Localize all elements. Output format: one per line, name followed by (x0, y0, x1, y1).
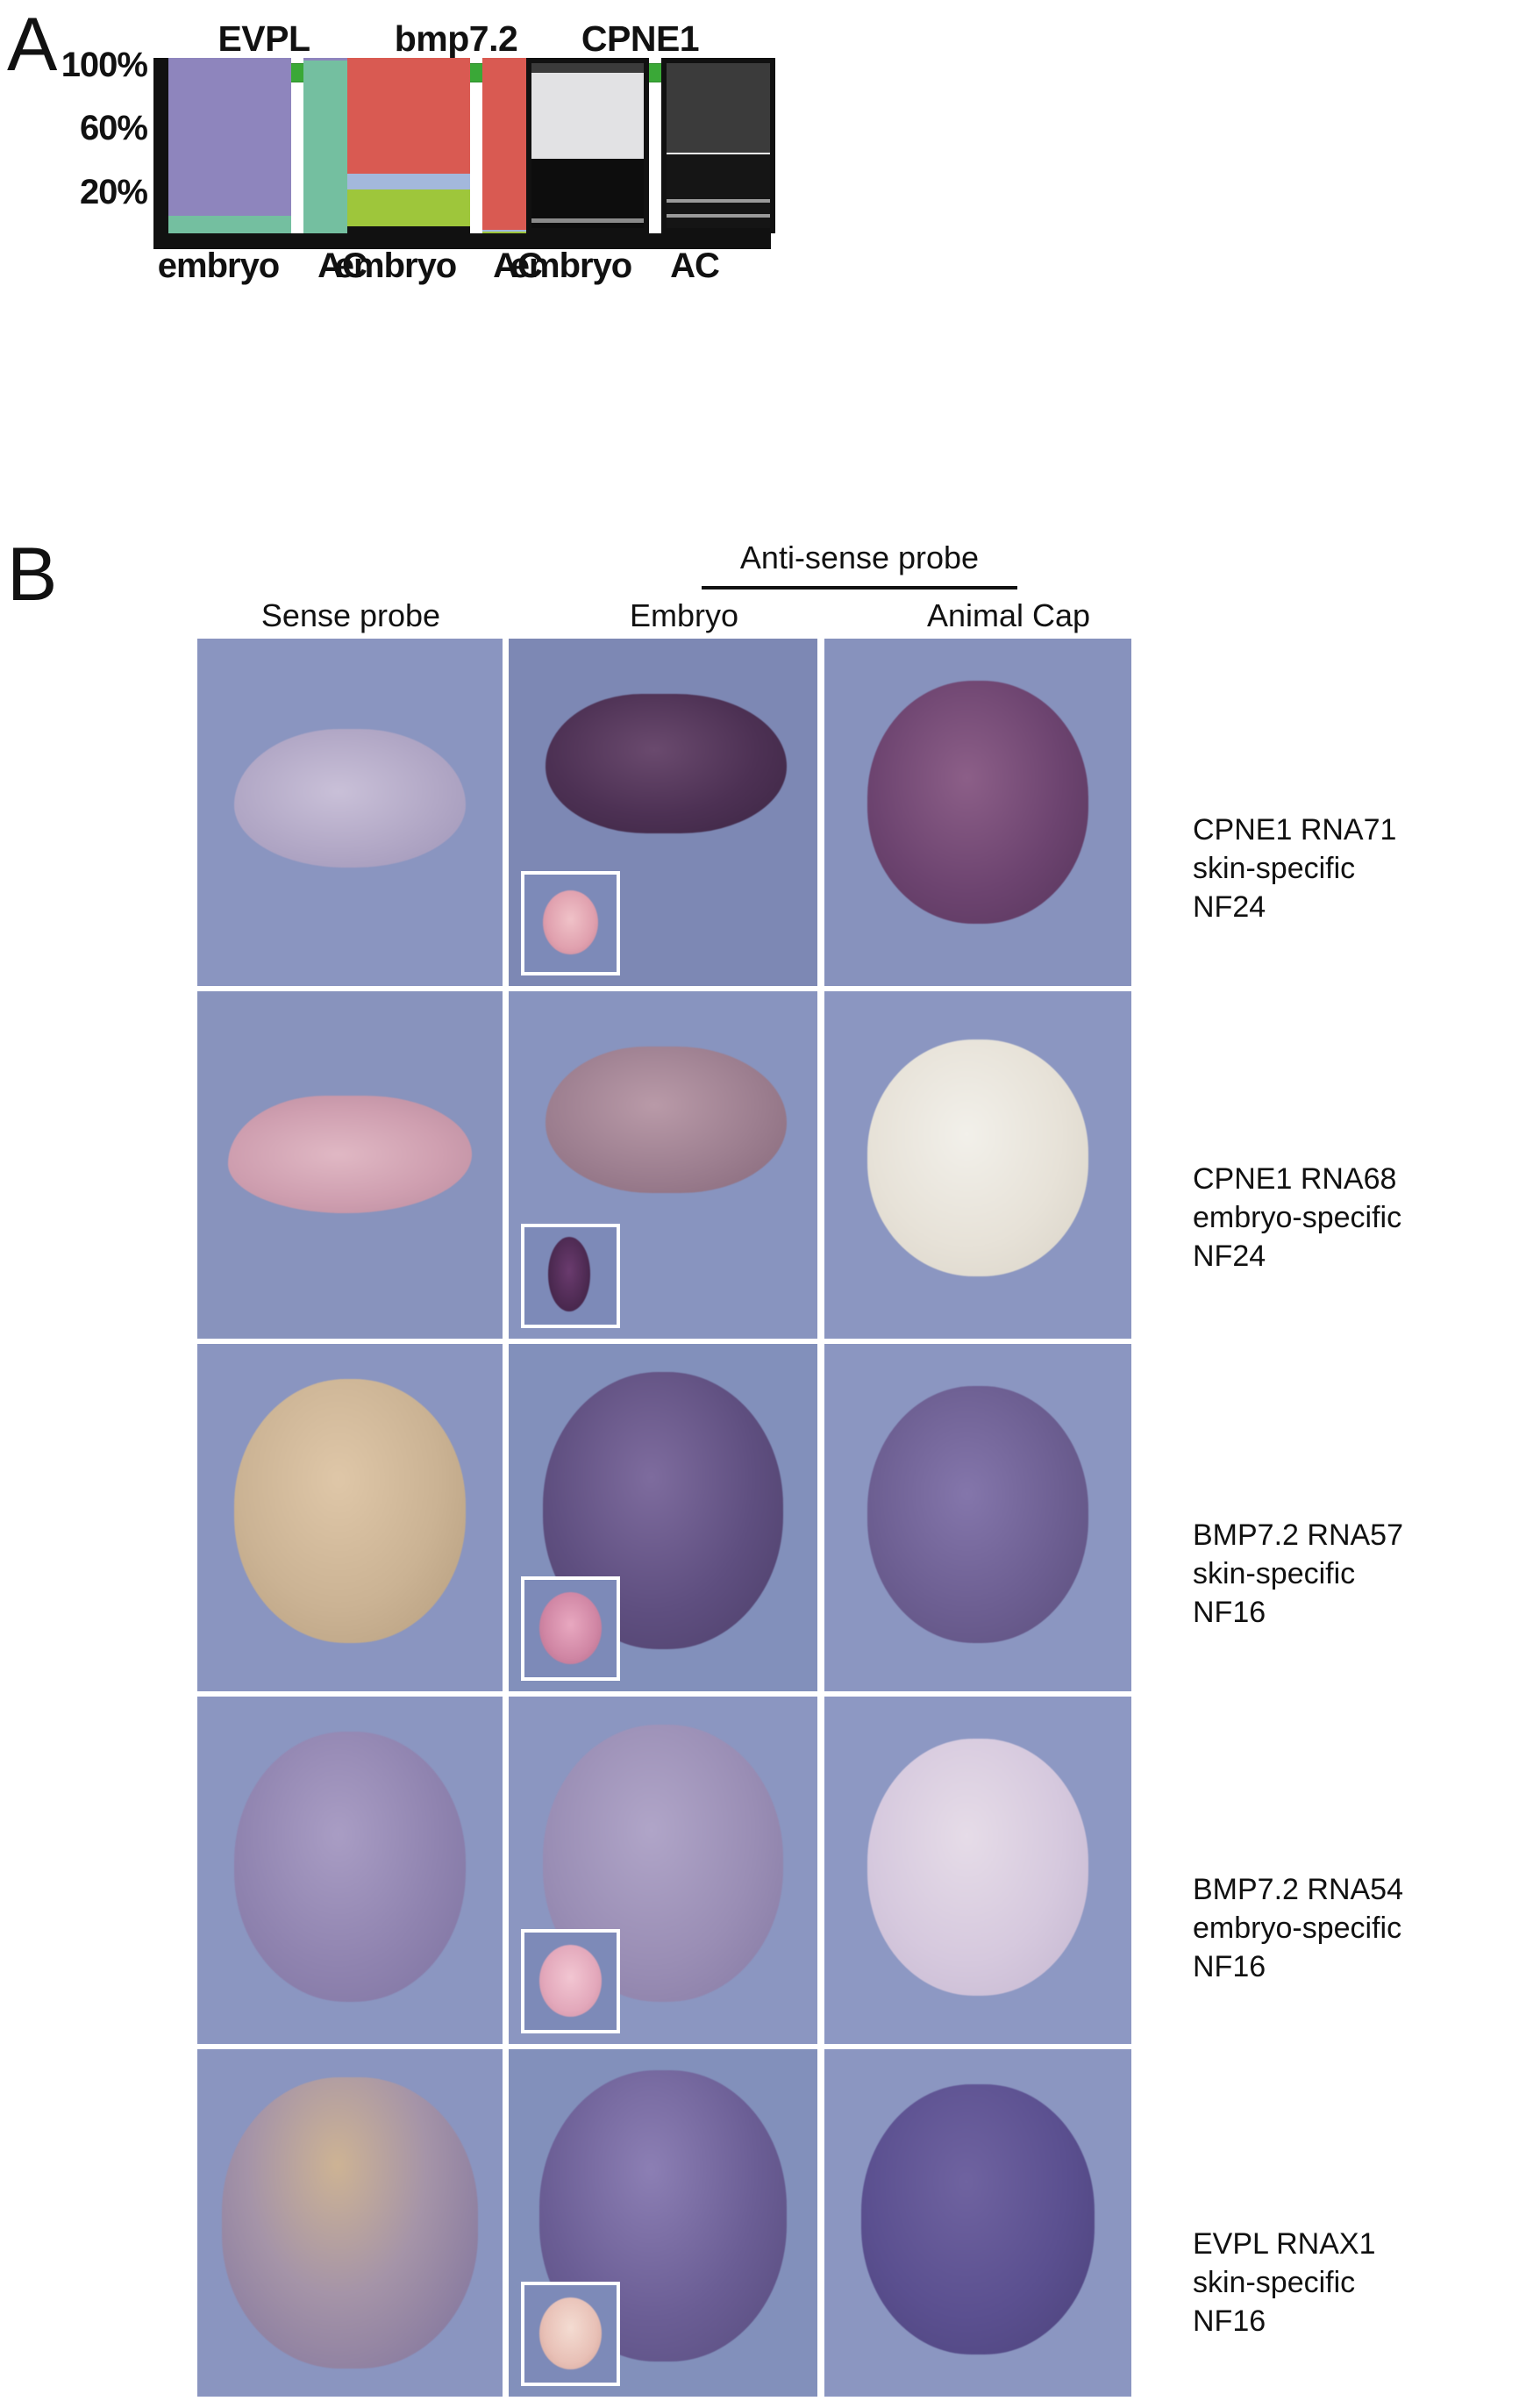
micrograph-r3-c3 (824, 1344, 1131, 1691)
specimen (546, 694, 787, 832)
inset-specimen (539, 2297, 602, 2369)
panel-b: B Anti-sense probe Sense probe Embryo An… (0, 491, 1519, 2408)
bar-segment-black (531, 159, 644, 218)
column-header-animal-cap: Animal Cap (859, 598, 1158, 633)
panel-a: A 100% 60% 20% EVPL bmp7.2 CPNE1 emb (0, 0, 1519, 456)
micrograph-r2-c1 (197, 991, 503, 1339)
micrograph-r1-c3 (824, 639, 1131, 986)
gene-group-label: CPNE1 (553, 19, 728, 58)
micrograph-r4-c3 (824, 1697, 1131, 2044)
micrograph-inset (521, 2282, 620, 2386)
bar-segment-black (667, 154, 770, 199)
bar-stack (667, 63, 770, 228)
bar-segment-black-2 (531, 223, 644, 228)
row-label-evpl-rnax1: EVPL RNAX1 skin-specific NF16 (1193, 2225, 1376, 2340)
specimen (546, 1047, 787, 1192)
bar-cpne1-ac (661, 58, 775, 233)
micrograph-r1-c1 (197, 639, 503, 986)
stacked-bar-chart: 100% 60% 20% EVPL bmp7.2 CPNE1 embryo AC… (0, 0, 1228, 456)
micrograph-r2-c3 (824, 991, 1131, 1339)
specimen (867, 1386, 1088, 1643)
bar-segment-red (347, 58, 470, 174)
row-label-cpne1-rna68: CPNE1 RNA68 embryo-specific NF24 (1193, 1160, 1401, 1275)
micrograph-inset (521, 1224, 620, 1328)
bar-segment-green (347, 189, 470, 226)
y-tick-label-20: 20% (16, 175, 147, 210)
specimen (222, 2077, 478, 2369)
micrograph-r5-c3 (824, 2049, 1131, 2397)
micrograph-inset (521, 1576, 620, 1681)
bar-segment-light-grey (531, 73, 644, 159)
micrograph-r4-c2 (509, 1697, 817, 2044)
row-label-bmp72-rna54: BMP7.2 RNA54 embryo-specific NF16 (1193, 1870, 1403, 1986)
micrograph-r5-c1 (197, 2049, 503, 2397)
specimen (861, 2084, 1095, 2355)
x-tick-label-cpne1-embryo: embryo (509, 247, 633, 284)
micrograph-inset (521, 1929, 620, 2033)
micrograph-r3-c1 (197, 1344, 503, 1691)
bar-bmp72-embryo (347, 58, 470, 233)
bar-segment-dark-grey (667, 63, 770, 153)
gene-group-label: EVPL (189, 19, 339, 58)
x-tick-label-evpl-embryo: embryo (156, 247, 281, 284)
specimen (228, 1096, 472, 1214)
micrograph-r2-c2 (509, 991, 817, 1339)
bar-segment-teal (168, 216, 291, 233)
specimen (867, 681, 1088, 924)
specimen (867, 1040, 1088, 1275)
antisense-probe-header: Anti-sense probe (667, 540, 1052, 575)
micrograph-r1-c2 (509, 639, 817, 986)
micrograph-r4-c1 (197, 1697, 503, 2044)
bar-segment-black-3 (667, 218, 770, 228)
inset-specimen (543, 890, 598, 954)
micrograph-inset (521, 871, 620, 975)
antisense-probe-rule (702, 586, 1017, 589)
bar-cpne1-embryo (526, 58, 649, 233)
bar-segment-black-2 (667, 203, 770, 214)
micrograph-r5-c2 (509, 2049, 817, 2397)
row-label-bmp72-rna57: BMP7.2 RNA57 skin-specific NF16 (1193, 1516, 1403, 1632)
specimen (234, 1379, 466, 1643)
bar-segment-dark-grey (531, 63, 644, 73)
inset-specimen (539, 1592, 602, 1664)
micrograph-r3-c2 (509, 1344, 817, 1691)
bar-evpl-embryo (168, 58, 291, 233)
x-tick-label-cpne1-ac: AC (642, 247, 747, 284)
inset-specimen (548, 1237, 590, 1311)
bar-segment-purple (168, 58, 291, 216)
y-axis-spine (153, 58, 168, 239)
gene-group-label: bmp7.2 (368, 19, 544, 58)
bar-segment-black (347, 226, 470, 233)
specimen (867, 1739, 1088, 1996)
bar-segment-blue (347, 174, 470, 189)
x-tick-label-bmp72-embryo: embryo (333, 247, 458, 284)
specimen (234, 729, 466, 868)
row-label-cpne1-rna71: CPNE1 RNA71 skin-specific NF24 (1193, 811, 1396, 926)
bar-stack (168, 58, 291, 233)
column-header-sense-probe: Sense probe (184, 598, 517, 633)
y-tick-label-100: 100% (16, 47, 147, 82)
specimen (234, 1732, 466, 2003)
bar-stack (531, 63, 644, 228)
bar-stack (347, 58, 470, 233)
inset-specimen (539, 1945, 602, 2017)
panel-b-letter: B (7, 537, 57, 612)
column-header-embryo: Embryo (544, 598, 824, 633)
y-tick-label-60: 60% (16, 111, 147, 146)
